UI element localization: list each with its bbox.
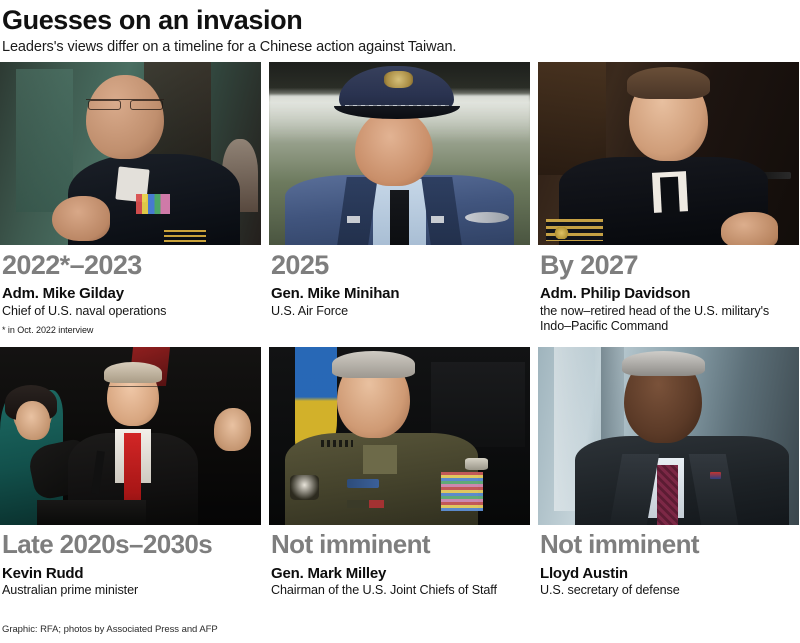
timeline-label: 2025 xyxy=(271,251,528,279)
cards-row-top: 2022*–2023 Adm. Mike Gilday Chief of U.S… xyxy=(0,62,800,335)
timeline-label: Not imminent xyxy=(271,531,528,558)
page-title: Guesses on an invasion xyxy=(2,6,800,35)
gen-mark-milley-photo xyxy=(269,347,530,525)
cards-grid: 2022*–2023 Adm. Mike Gilday Chief of U.S… xyxy=(0,62,800,599)
person-name: Gen. Mike Minihan xyxy=(271,285,528,302)
gen-mike-minihan-photo xyxy=(269,62,530,245)
person-name: Lloyd Austin xyxy=(540,565,797,582)
timeline-label: Late 2020s–2030s xyxy=(2,531,259,558)
timeline-label: Not imminent xyxy=(540,531,797,558)
card-adm-philip-davidson: By 2027 Adm. Philip Davidson the now–ret… xyxy=(538,62,799,335)
timeline-label: By 2027 xyxy=(540,251,797,279)
card-text-block: Not imminent Gen. Mark Milley Chairman o… xyxy=(269,525,530,598)
lloyd-austin-photo xyxy=(538,347,799,525)
person-role: the now–retired head of the U.S. militar… xyxy=(540,304,797,335)
page-subtitle: Leaders's views differ on a timeline for… xyxy=(2,39,800,55)
adm-philip-davidson-photo xyxy=(538,62,799,245)
person-name: Adm. Philip Davidson xyxy=(540,285,797,302)
person-role: Chief of U.S. naval operations xyxy=(2,304,259,320)
person-role: Australian prime minister xyxy=(2,583,259,599)
person-role: Chairman of the U.S. Joint Chiefs of Sta… xyxy=(271,583,528,599)
person-role: U.S. Air Force xyxy=(271,304,528,320)
card-text-block: Late 2020s–2030s Kevin Rudd Australian p… xyxy=(0,525,261,598)
source-credit: Graphic: RFA; photos by Associated Press… xyxy=(2,624,218,635)
person-name: Adm. Mike Gilday xyxy=(2,285,259,302)
card-text-block: By 2027 Adm. Philip Davidson the now–ret… xyxy=(538,245,799,335)
header: Guesses on an invasion Leaders's views d… xyxy=(0,0,800,55)
infographic-root: Guesses on an invasion Leaders's views d… xyxy=(0,0,800,643)
card-adm-mike-gilday: 2022*–2023 Adm. Mike Gilday Chief of U.S… xyxy=(0,62,261,335)
kevin-rudd-photo xyxy=(0,347,261,525)
person-role: U.S. secretary of defense xyxy=(540,583,797,599)
cards-row-bottom: Late 2020s–2030s Kevin Rudd Australian p… xyxy=(0,347,800,598)
card-kevin-rudd: Late 2020s–2030s Kevin Rudd Australian p… xyxy=(0,347,261,598)
adm-mike-gilday-photo xyxy=(0,62,261,245)
timeline-footnote: * in Oct. 2022 interview xyxy=(2,325,259,335)
person-name: Gen. Mark Milley xyxy=(271,565,528,582)
card-gen-mark-milley: Not imminent Gen. Mark Milley Chairman o… xyxy=(269,347,530,598)
card-text-block: 2022*–2023 Adm. Mike Gilday Chief of U.S… xyxy=(0,245,261,335)
person-name: Kevin Rudd xyxy=(2,565,259,582)
card-lloyd-austin: Not imminent Lloyd Austin U.S. secretary… xyxy=(538,347,799,598)
timeline-label: 2022*–2023 xyxy=(2,251,259,279)
card-text-block: 2025 Gen. Mike Minihan U.S. Air Force xyxy=(269,245,530,319)
card-text-block: Not imminent Lloyd Austin U.S. secretary… xyxy=(538,525,799,598)
card-gen-mike-minihan: 2025 Gen. Mike Minihan U.S. Air Force xyxy=(269,62,530,335)
